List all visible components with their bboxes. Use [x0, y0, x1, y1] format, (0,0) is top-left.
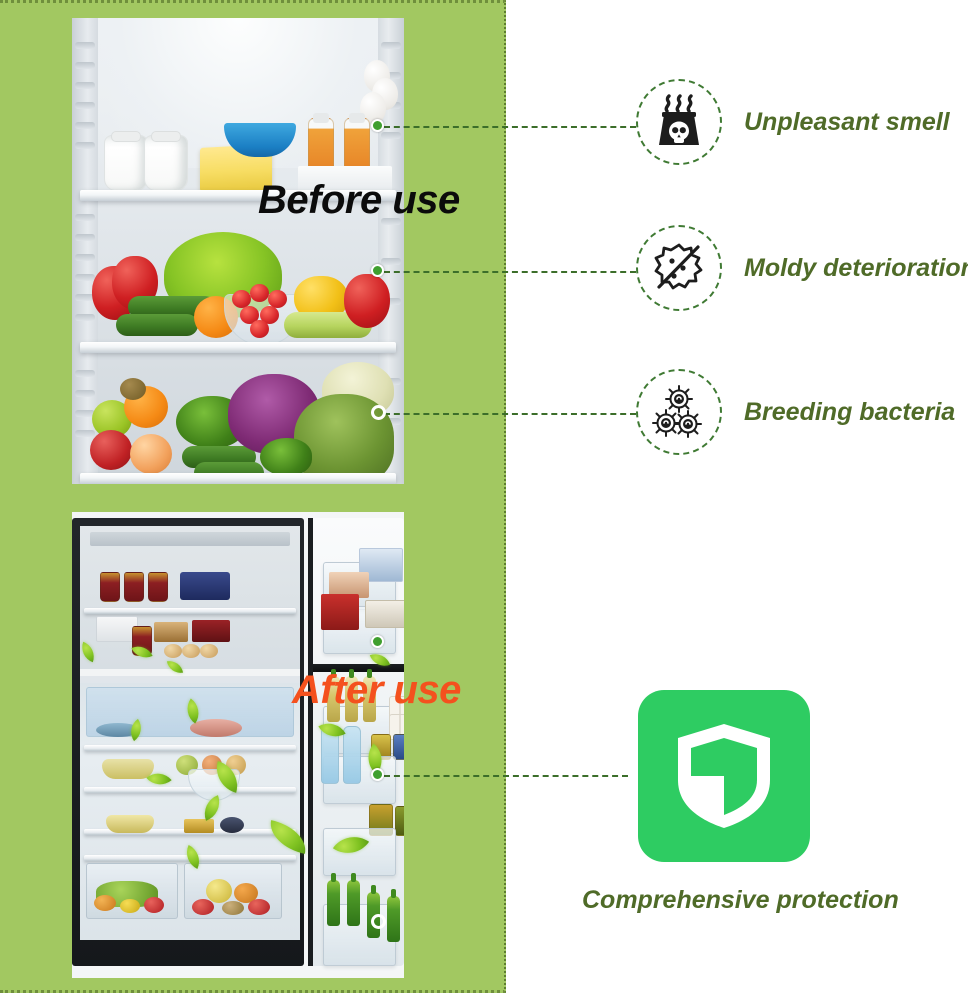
- red-bell-pepper: [344, 274, 390, 328]
- fridge-interior: [72, 18, 404, 484]
- feature-moldy-deterioration[interactable]: Moldy deterioration: [636, 225, 968, 311]
- infographic-canvas: Before use: [0, 0, 968, 1000]
- frozen-pack: [365, 600, 404, 628]
- door-bin: [323, 828, 396, 876]
- bacteria-cluster-icon: [636, 369, 722, 455]
- fridge-exterior: [72, 512, 404, 978]
- meat-cut: [190, 719, 242, 737]
- shelf-divider: [80, 342, 396, 353]
- red-apple: [90, 430, 132, 470]
- feature-label: Unpleasant smell: [744, 108, 950, 137]
- ice-cream-tub: [100, 572, 120, 602]
- frozen-meal: [154, 622, 188, 642]
- dessert-tray: [102, 759, 154, 779]
- cucumber: [116, 314, 198, 336]
- fridge-cabinet: [72, 518, 304, 966]
- feature-unpleasant-smell[interactable]: Unpleasant smell: [636, 79, 950, 165]
- hotspot-ring-3: [371, 405, 386, 420]
- pizza-box: [321, 594, 359, 630]
- kiwi: [120, 378, 146, 400]
- milk-jar: [144, 135, 188, 191]
- connector-line-4: [384, 775, 628, 777]
- connector-line-3: [384, 413, 636, 415]
- shield-tile: [638, 690, 810, 862]
- melon: [206, 879, 232, 903]
- bread-roll: [164, 644, 182, 658]
- soda-bottle: [347, 880, 360, 926]
- peach: [130, 434, 172, 474]
- feature-label: Breeding bacteria: [744, 398, 955, 427]
- pickle-jar: [395, 806, 404, 836]
- herbs: [260, 438, 312, 476]
- comprehensive-protection-caption: Comprehensive protection: [582, 886, 866, 915]
- dessert-cake: [106, 815, 154, 833]
- feature-label: Moldy deterioration: [744, 254, 968, 283]
- connector-line-1: [384, 126, 636, 128]
- soda-bottle: [387, 896, 400, 942]
- frozen-meal: [192, 620, 230, 642]
- yellow-pepper: [120, 899, 140, 913]
- carrot: [94, 895, 116, 911]
- bread-roll: [200, 644, 218, 658]
- milk-jar: [104, 135, 148, 191]
- feature-breeding-bacteria[interactable]: Breeding bacteria: [636, 369, 955, 455]
- apple: [248, 899, 270, 915]
- before-use-label: Before use: [258, 178, 460, 223]
- food-container: [184, 819, 214, 833]
- fridge-compartment: [80, 683, 300, 940]
- potato: [222, 901, 244, 915]
- shelf-divider: [80, 473, 396, 484]
- apple: [192, 899, 214, 915]
- blue-storage-box: [180, 572, 230, 600]
- mold-germ-crossed-icon: [636, 225, 722, 311]
- red-pepper: [144, 897, 164, 913]
- food-container: [220, 817, 244, 833]
- before-use-photo: [72, 18, 404, 484]
- comprehensive-protection-block[interactable]: Comprehensive protection: [638, 690, 810, 862]
- ice-cream-tub: [148, 572, 168, 602]
- freezer-compartment: [80, 526, 300, 676]
- hotspot-dot-6: [371, 635, 384, 648]
- water-bottle: [343, 726, 361, 784]
- hotspot-dot-1: [371, 119, 384, 132]
- soda-bottle: [327, 880, 340, 926]
- hotspot-dot-4: [371, 768, 384, 781]
- ice-cream-tub: [124, 572, 144, 602]
- bread-roll: [182, 644, 200, 658]
- fridge-door: [308, 518, 404, 966]
- hotspot-dot-2: [371, 264, 384, 277]
- smelly-trash-skull-icon: [636, 79, 722, 165]
- after-use-photo: [72, 512, 404, 978]
- connector-line-2: [384, 271, 636, 273]
- hotspot-ring-5: [371, 914, 386, 929]
- after-use-label: After use: [292, 668, 461, 713]
